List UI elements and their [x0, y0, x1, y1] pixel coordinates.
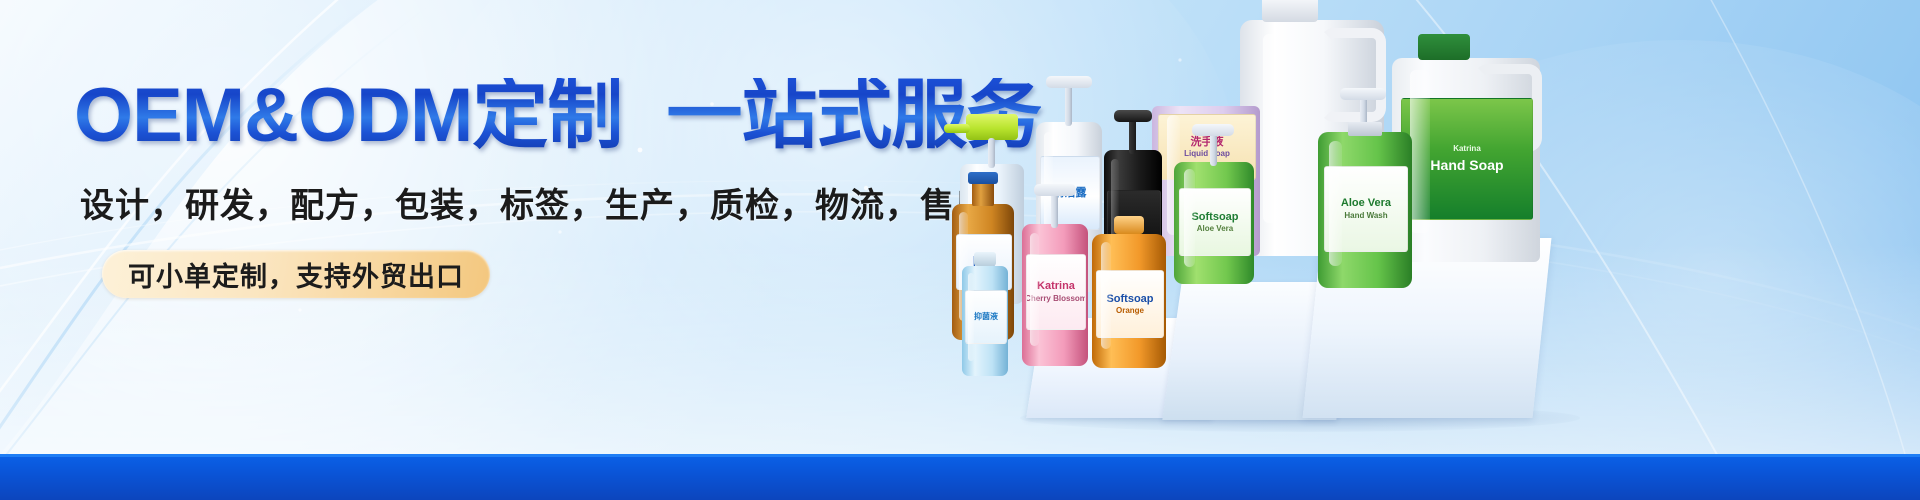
green-jug-label: Hand Soap [1430, 158, 1503, 173]
bottom-accent-bar [0, 454, 1920, 500]
product-green-jug: Katrina Hand Soap [1392, 58, 1540, 262]
orange-softsoap-label: Softsoap [1106, 293, 1153, 305]
pink-bottle-label: Katrina [1037, 280, 1075, 292]
orange-softsoap-sublabel: Orange [1116, 307, 1144, 316]
green-jug-sublabel: Katrina [1453, 145, 1481, 154]
product-blue-sanitizer: 抑菌液 [962, 266, 1008, 376]
purple-box-label: 洗手液 [1190, 136, 1223, 148]
purple-box-sublabel: Liquid Soap [1184, 150, 1230, 159]
green-aloe-label: Aloe Vera [1341, 197, 1391, 209]
green-softsoap-sublabel: Aloe Vera [1197, 225, 1233, 234]
product-display: Katrina Hand Soap 洗手液 Liquid Soap [940, 0, 1920, 454]
green-softsoap-label: Softsoap [1191, 211, 1238, 223]
green-aloe-sublabel: Hand Wash [1344, 212, 1387, 221]
headline-main: OEM&ODM定制 [74, 78, 622, 154]
subtitle: 设计，研发，配方，包装，标签，生产，质检，物流，售后 [80, 178, 990, 227]
small-order-badge[interactable]: 可小单定制，支持外贸出口 [102, 250, 490, 298]
product-pink-bottle: Katrina Cherry Blossom [1022, 224, 1088, 366]
product-orange-softsoap: Softsoap Orange [1092, 234, 1166, 368]
promo-banner: OEM&ODM定制 一站式服务 设计，研发，配方，包装，标签，生产，质检，物流，… [0, 0, 1920, 500]
headline: OEM&ODM定制 一站式服务 [74, 78, 1041, 154]
product-green-aloe: Aloe Vera Hand Wash [1318, 132, 1412, 288]
product-green-softsoap: Softsoap Aloe Vera [1174, 162, 1254, 284]
small-order-badge-label: 可小单定制，支持外贸出口 [128, 255, 464, 294]
bottom-bar-highlight [0, 454, 1920, 457]
banner-text-block: OEM&ODM定制 一站式服务 设计，研发，配方，包装，标签，生产，质检，物流，… [0, 0, 1000, 454]
blue-sanitizer-label: 抑菌液 [974, 313, 998, 322]
